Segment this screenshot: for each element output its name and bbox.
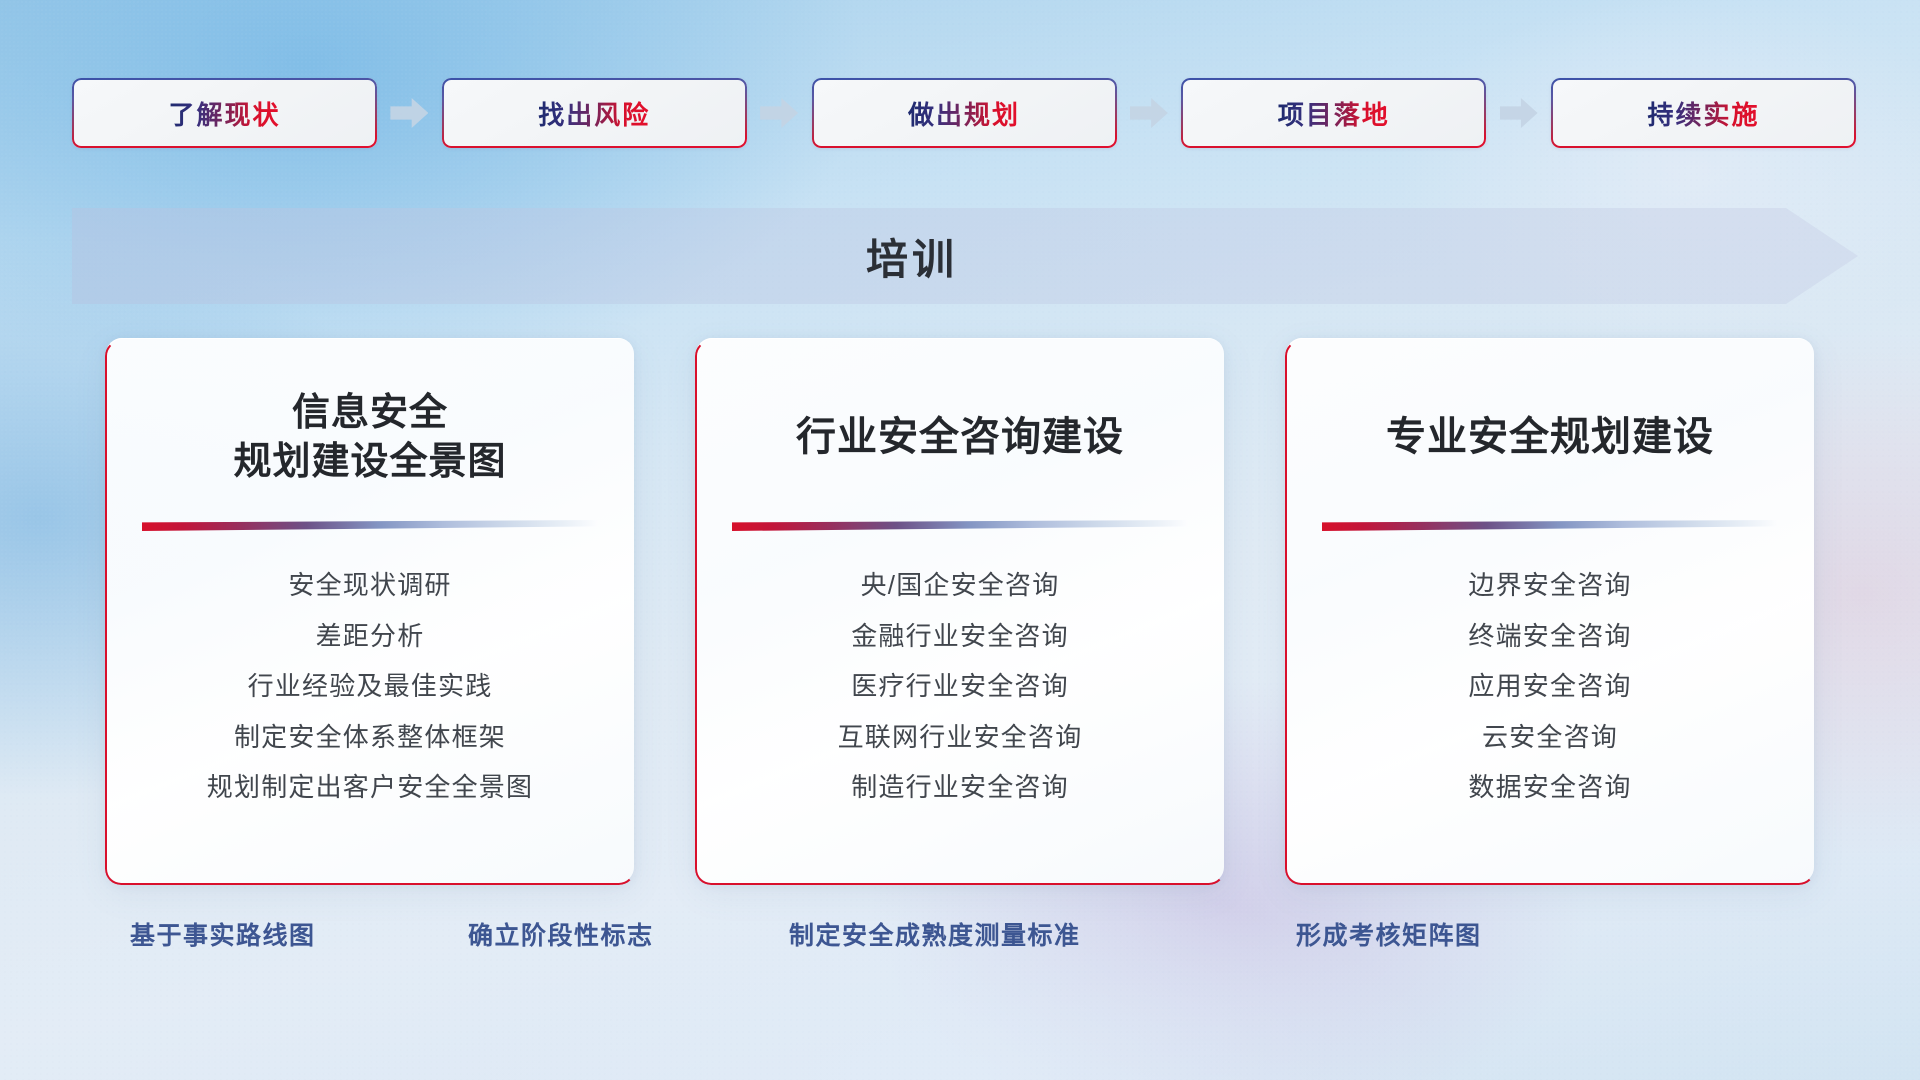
step-arrow-icon-1 — [390, 98, 428, 128]
card-title-1-line-2: 规划建设全景图 — [233, 438, 506, 487]
step-box-3[interactable]: 做出规划 — [812, 78, 1117, 148]
caption-roadmap: 基于事实路线图 — [130, 916, 316, 952]
list-item: 数据安全咨询 — [1468, 771, 1631, 804]
step-box-5[interactable]: 持续实施 — [1551, 78, 1856, 148]
card-divider-1 — [142, 520, 598, 531]
list-item: 行业经验及最佳实践 — [248, 670, 493, 703]
step-label-3: 做出规划 — [908, 95, 1020, 132]
card-title-3-line-1: 专业安全规划建设 — [1386, 412, 1714, 463]
caption-assessment-matrix: 形成考核矩阵图 — [1296, 916, 1482, 952]
card-divider-3 — [1322, 520, 1778, 531]
card-title-1-line-1: 信息安全 — [292, 389, 448, 438]
list-item: 差距分析 — [316, 620, 425, 653]
list-item: 应用安全咨询 — [1468, 670, 1631, 703]
step-box-1[interactable]: 了解现状 — [72, 78, 377, 148]
caption-milestones: 确立阶段性标志 — [468, 916, 654, 952]
step-arrow-icon-2 — [760, 98, 798, 128]
banner-title: 培训 — [866, 226, 958, 287]
step-label-4: 项目落地 — [1278, 95, 1390, 132]
process-steps: 了解现状 找出风险 做出规划 项目落地 持续实施 — [72, 78, 1856, 148]
card-title-2-line-1: 行业安全咨询建设 — [796, 412, 1124, 463]
training-banner-arrow: 培训 — [72, 208, 1858, 304]
list-item: 央/国企安全咨询 — [861, 569, 1060, 602]
card-professional-planning[interactable]: 专业安全规划建设 边界安全咨询 终端安全咨询 应用安全咨询 云安全咨询 数据安全… — [1286, 338, 1814, 883]
list-item: 制造行业安全咨询 — [851, 771, 1069, 804]
step-arrow-icon-3 — [1130, 98, 1168, 128]
caption-row: 基于事实路线图 确立阶段性标志 制定安全成熟度测量标准 形成考核矩阵图 — [0, 916, 1920, 962]
step-label-5: 持续实施 — [1647, 95, 1759, 132]
card-title-2: 行业安全咨询建设 — [726, 382, 1194, 494]
card-list-2: 央/国企安全咨询 金融行业安全咨询 医疗行业安全咨询 互联网行业安全咨询 制造行… — [726, 569, 1194, 804]
list-item: 终端安全咨询 — [1468, 620, 1631, 653]
list-item: 云安全咨询 — [1482, 721, 1618, 754]
slide-stage: 了解现状 找出风险 做出规划 项目落地 持续实施 培训 信息安全 规划建设全景图 — [0, 0, 1920, 1080]
card-industry-consulting[interactable]: 行业安全咨询建设 央/国企安全咨询 金融行业安全咨询 医疗行业安全咨询 互联网行… — [696, 338, 1224, 883]
card-group: 信息安全 规划建设全景图 安全现状调研 差距分析 行业经验及最佳实践 制定安全体… — [0, 338, 1920, 883]
list-item: 边界安全咨询 — [1468, 569, 1631, 602]
card-list-1: 安全现状调研 差距分析 行业经验及最佳实践 制定安全体系整体框架 规划制定出客户… — [136, 569, 604, 804]
card-title-3: 专业安全规划建设 — [1316, 382, 1784, 494]
card-panorama[interactable]: 信息安全 规划建设全景图 安全现状调研 差距分析 行业经验及最佳实践 制定安全体… — [106, 338, 634, 883]
card-divider-2 — [732, 520, 1188, 531]
list-item: 制定安全体系整体框架 — [234, 721, 506, 754]
list-item: 医疗行业安全咨询 — [851, 670, 1069, 703]
list-item: 安全现状调研 — [288, 569, 451, 602]
step-label-2: 找出风险 — [538, 95, 650, 132]
step-label-1: 了解现状 — [168, 95, 280, 132]
card-list-3: 边界安全咨询 终端安全咨询 应用安全咨询 云安全咨询 数据安全咨询 — [1316, 569, 1784, 804]
step-box-2[interactable]: 找出风险 — [442, 78, 747, 148]
step-arrow-icon-4 — [1500, 98, 1538, 128]
list-item: 金融行业安全咨询 — [851, 620, 1069, 653]
list-item: 互联网行业安全咨询 — [838, 721, 1083, 754]
card-title-1: 信息安全 规划建设全景图 — [136, 382, 604, 494]
step-box-4[interactable]: 项目落地 — [1181, 78, 1486, 148]
list-item: 规划制定出客户安全全景图 — [207, 771, 533, 804]
caption-maturity-standard: 制定安全成熟度测量标准 — [789, 916, 1081, 952]
